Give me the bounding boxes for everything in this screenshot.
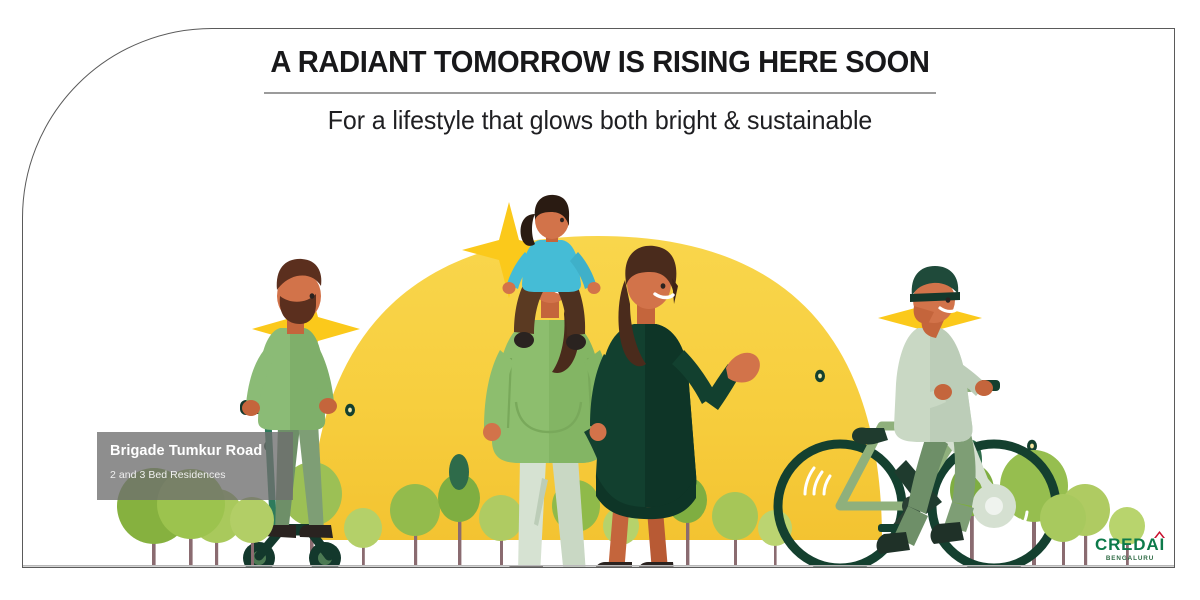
roof-icon (1153, 530, 1166, 538)
tree (712, 492, 758, 566)
promotional-banner: A RADIANT TOMORROW IS RISING HERE SOON F… (0, 0, 1200, 600)
page-subtitle: For a lifestyle that glows both bright &… (24, 105, 1176, 136)
title-divider (264, 92, 936, 94)
tree (344, 508, 382, 566)
credai-wordmark-text: CREDAI (1095, 536, 1165, 553)
credai-logo: CREDAI BENGALURU (1095, 536, 1165, 562)
credai-chapter-text: BENGALURU (1095, 556, 1165, 562)
ground-line (22, 565, 1175, 567)
project-configuration: 2 and 3 Bed Residences (110, 469, 293, 481)
tree (1040, 494, 1086, 566)
tree (479, 495, 523, 566)
page-title: A RADIANT TOMORROW IS RISING HERE SOON (36, 46, 1164, 79)
project-name: Brigade Tumkur Road (110, 444, 293, 460)
headline-block: A RADIANT TOMORROW IS RISING HERE SOON F… (0, 46, 1200, 136)
project-label-chip: Brigade Tumkur Road 2 and 3 Bed Residenc… (97, 432, 293, 500)
tree (390, 484, 440, 566)
